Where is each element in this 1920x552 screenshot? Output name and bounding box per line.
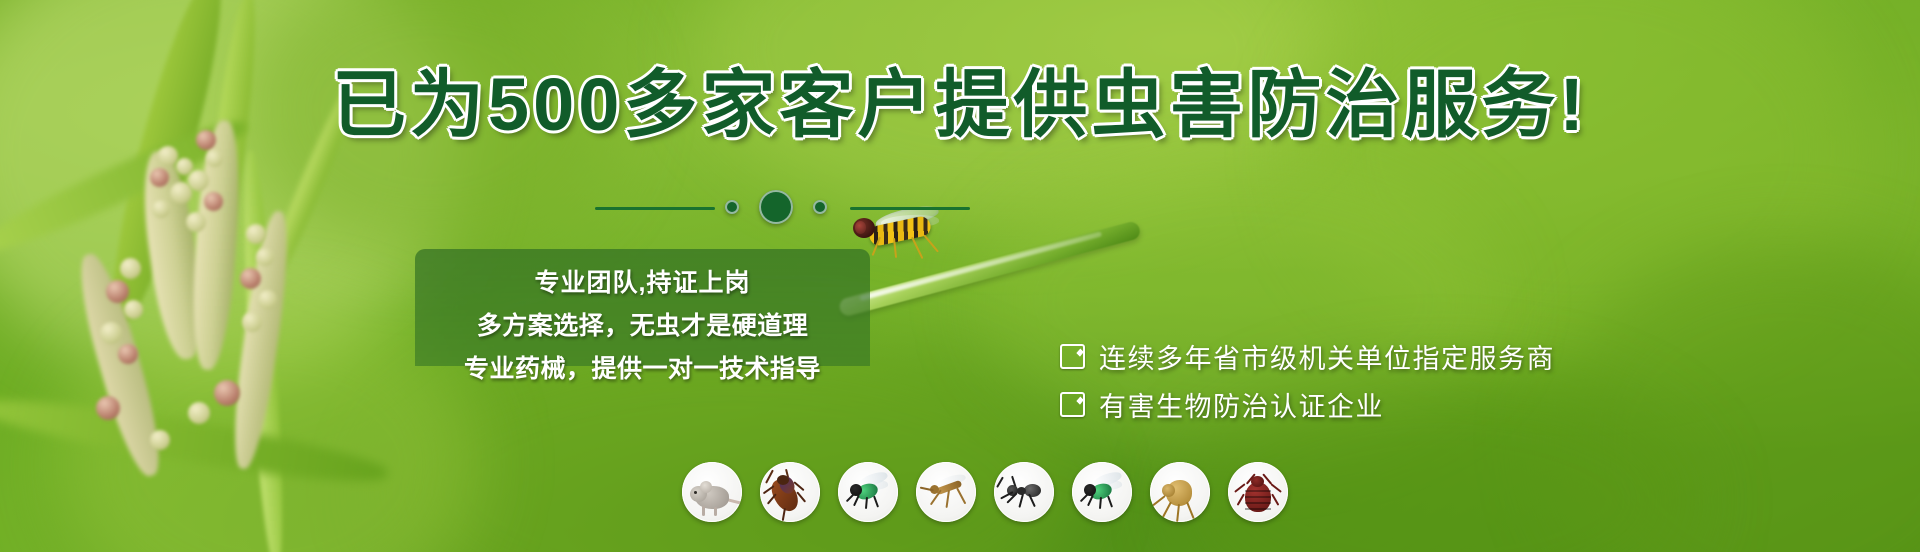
ant-icon[interactable] <box>994 462 1054 522</box>
list-item: 有害生物防治认证企业 <box>1060 380 1555 428</box>
checkbox-checked-icon <box>1060 344 1085 369</box>
mosquito-icon[interactable] <box>916 462 976 522</box>
mouse-icon[interactable] <box>682 462 742 522</box>
checkbox-checked-icon <box>1060 392 1085 417</box>
feature-panel: 专业团队,持证上岗 多方案选择，无虫才是硬道理 专业药械，提供一对一技术指导 <box>415 249 870 366</box>
pest-icon-row <box>682 462 1288 522</box>
flea-icon[interactable] <box>1150 462 1210 522</box>
cockroach-icon[interactable] <box>760 462 820 522</box>
dot-small-left <box>725 200 739 214</box>
feature-line-3: 专业药械，提供一对一技术指导 <box>415 349 870 385</box>
dot-small-right <box>813 200 827 214</box>
credentials-list: 连续多年省市级机关单位指定服务商 有害生物防治认证企业 <box>1060 332 1555 428</box>
feature-line-2: 多方案选择，无虫才是硬道理 <box>415 306 870 342</box>
decorative-dots <box>725 186 835 230</box>
list-item: 连续多年省市级机关单位指定服务商 <box>1060 332 1555 380</box>
fly-icon[interactable] <box>1072 462 1132 522</box>
credential-label: 有害生物防治认证企业 <box>1099 385 1384 424</box>
feature-line-1: 专业团队,持证上岗 <box>415 263 870 299</box>
divider-left <box>595 207 715 210</box>
bedbug-icon[interactable] <box>1228 462 1288 522</box>
credential-label: 连续多年省市级机关单位指定服务商 <box>1099 337 1555 376</box>
pest-control-hero-banner: 已为500多家客户提供虫害防治服务! 专业团队,持证上岗 多方案选择，无虫才是硬… <box>0 0 1920 552</box>
headline: 已为500多家客户提供虫害防治服务! <box>0 68 1920 142</box>
dot-large-center <box>759 190 793 224</box>
divider-right <box>850 207 970 210</box>
fly-icon[interactable] <box>838 462 898 522</box>
